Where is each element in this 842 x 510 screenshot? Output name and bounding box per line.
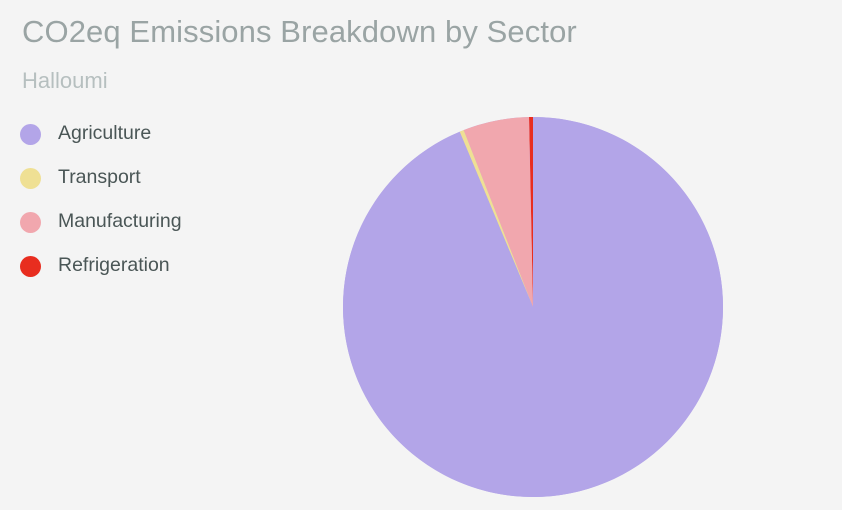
legend-item-label: Manufacturing [58, 212, 182, 232]
legend-swatch-icon [20, 212, 41, 233]
legend-item-agriculture[interactable]: Agriculture [20, 112, 300, 156]
pie-chart-figure: CO2eq Emissions Breakdown by Sector Hall… [0, 0, 842, 510]
page-title: CO2eq Emissions Breakdown by Sector [22, 14, 577, 50]
legend-item-manufacturing[interactable]: Manufacturing [20, 200, 300, 244]
legend-item-refrigeration[interactable]: Refrigeration [20, 244, 300, 288]
legend-swatch-icon [20, 256, 41, 277]
legend-item-label: Transport [58, 168, 141, 188]
chart-subtitle: Halloumi [22, 68, 108, 94]
pie-slice-agriculture[interactable] [343, 117, 723, 497]
legend-swatch-icon [20, 168, 41, 189]
legend-item-transport[interactable]: Transport [20, 156, 300, 200]
legend-item-label: Agriculture [58, 124, 151, 144]
legend-swatch-icon [20, 124, 41, 145]
pie-svg [343, 117, 723, 497]
pie-chart-plot-area [343, 117, 723, 497]
legend-item-label: Refrigeration [58, 256, 170, 276]
chart-legend: Agriculture Transport Manufacturing Refr… [20, 112, 300, 288]
